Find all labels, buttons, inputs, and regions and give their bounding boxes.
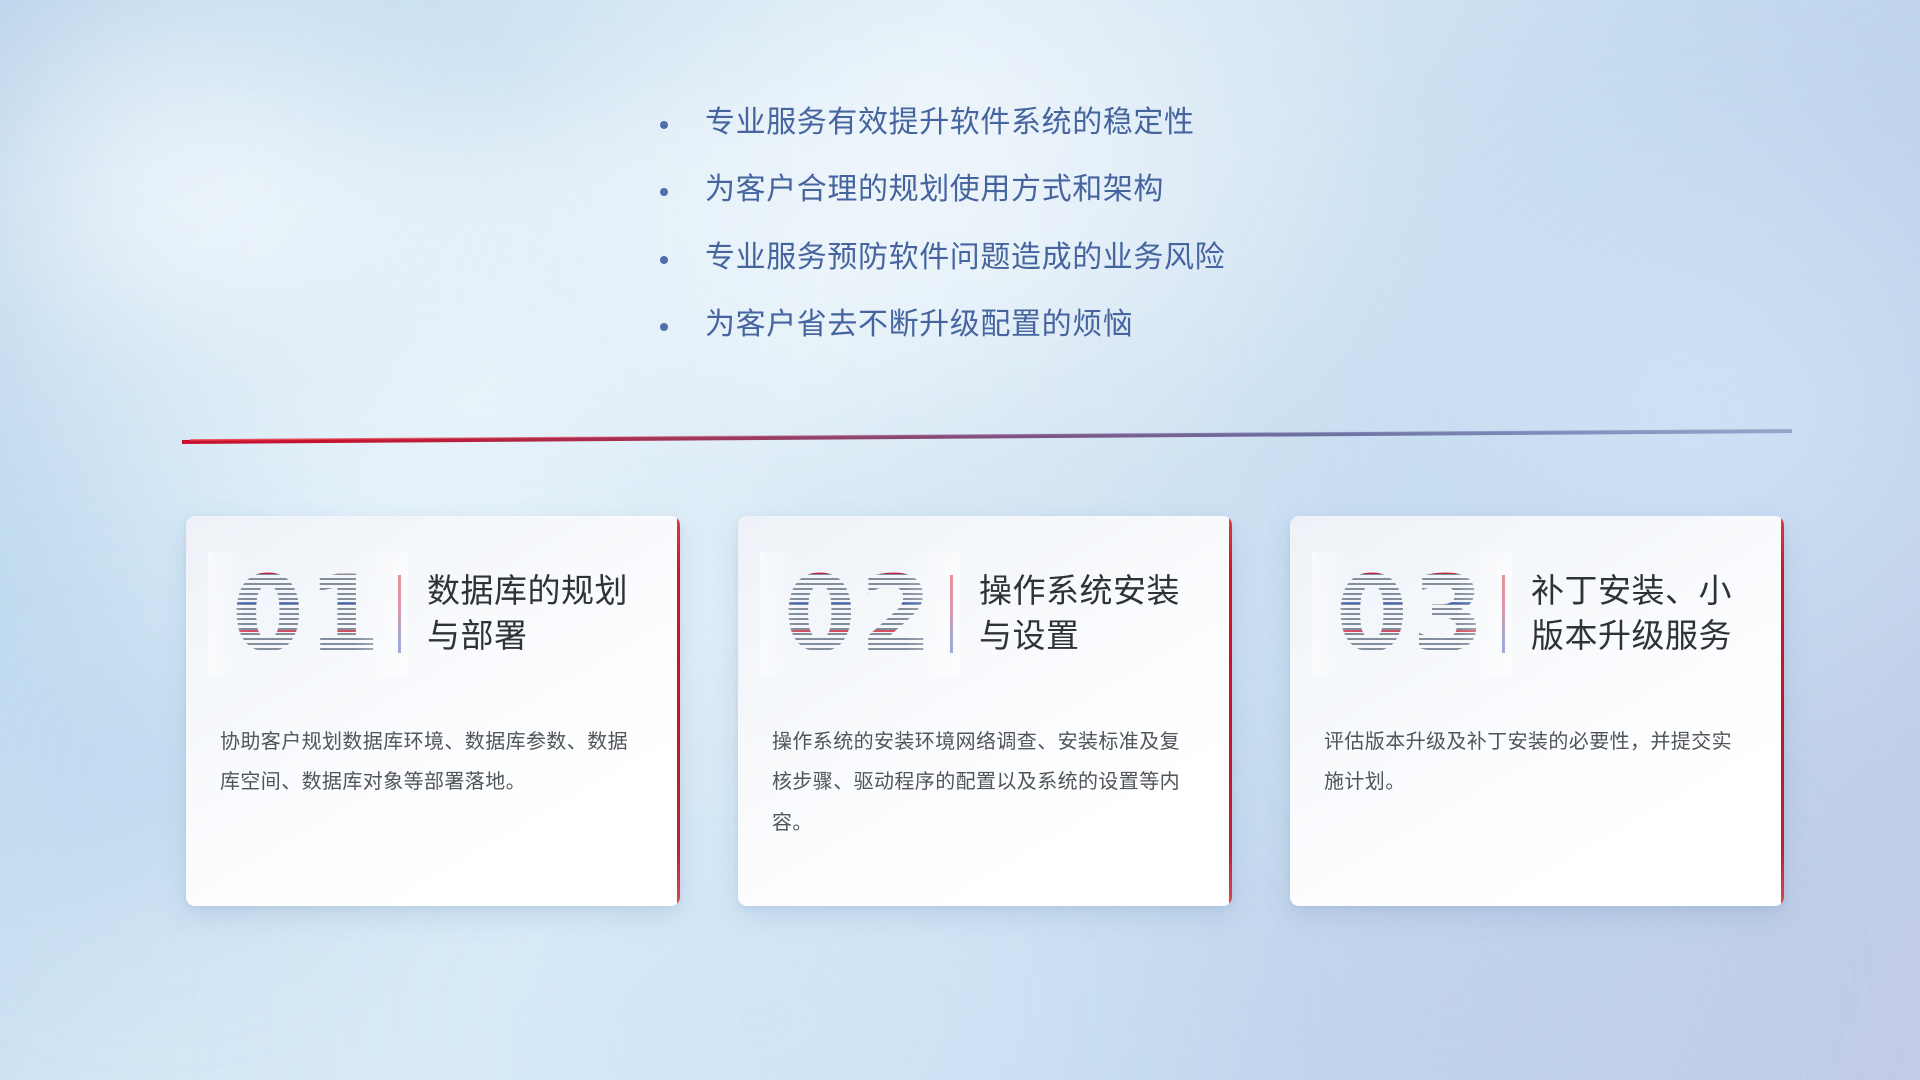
- card-title-line-1: 操作系统安装: [979, 569, 1180, 614]
- card-title-line-2: 版本升级服务: [1531, 614, 1732, 659]
- card-title-accent-bar: [1502, 575, 1505, 653]
- benefits-bullet-list: 专业服务有效提升软件系统的稳定性 为客户合理的规划使用方式和架构 专业服务预防软…: [660, 104, 1225, 374]
- card-body-text: 协助客户规划数据库环境、数据库参数、数据库空间、数据库对象等部署落地。: [220, 722, 646, 803]
- card-number-accent-stripes: 03: [1322, 558, 1502, 670]
- card-header: 03 03 补丁安装、小 版本升级服务: [1290, 516, 1784, 712]
- card-title: 数据库的规划 与部署: [427, 569, 642, 659]
- bullet-dot-icon: [660, 323, 668, 331]
- bullet-text: 专业服务预防软件问题造成的业务风险: [705, 239, 1225, 277]
- list-item: 为客户合理的规划使用方式和架构: [660, 171, 1225, 209]
- list-item: 为客户省去不断升级配置的烦恼: [660, 306, 1225, 344]
- card-header: 01 01 数据库的规划 与部署: [186, 516, 680, 712]
- card-number-watermark: 02 02: [770, 558, 950, 670]
- section-divider: [182, 424, 1792, 446]
- card-title-accent-bar: [398, 575, 401, 653]
- bullet-dot-icon: [660, 256, 668, 264]
- card-number-watermark: 03 03: [1322, 558, 1502, 670]
- card-title-accent-bar: [950, 575, 953, 653]
- service-card[interactable]: 03 03 补丁安装、小 版本升级服务 评估版本升级及补丁安装的必要性，并提交实…: [1290, 516, 1784, 906]
- card-title-line-1: 补丁安装、小: [1531, 569, 1732, 614]
- service-card-group: 01 01 数据库的规划 与部署 协助客户规划数据库环境、数据库参数、数据库空间…: [186, 516, 1784, 906]
- list-item: 专业服务有效提升软件系统的稳定性: [660, 104, 1225, 142]
- card-header: 02 02 操作系统安装 与设置: [738, 516, 1232, 712]
- service-card[interactable]: 02 02 操作系统安装 与设置 操作系统的安装环境网络调查、安装标准及复核步骤…: [738, 516, 1232, 906]
- service-card[interactable]: 01 01 数据库的规划 与部署 协助客户规划数据库环境、数据库参数、数据库空间…: [186, 516, 680, 906]
- card-number-watermark: 01 01: [218, 558, 398, 670]
- bullet-dot-icon: [660, 121, 668, 129]
- card-number-accent-stripes: 01: [218, 558, 398, 670]
- bullet-text: 为客户合理的规划使用方式和架构: [705, 171, 1164, 209]
- card-number-accent-stripes: 02: [770, 558, 950, 670]
- card-title-line-2: 与设置: [979, 614, 1180, 659]
- card-title: 操作系统安装 与设置: [979, 569, 1194, 659]
- card-title: 补丁安装、小 版本升级服务: [1531, 569, 1746, 659]
- bullet-text: 专业服务有效提升软件系统的稳定性: [705, 104, 1195, 142]
- list-item: 专业服务预防软件问题造成的业务风险: [660, 239, 1225, 277]
- card-body-text: 评估版本升级及补丁安装的必要性，并提交实施计划。: [1324, 722, 1750, 803]
- card-title-line-1: 数据库的规划: [427, 569, 628, 614]
- bullet-dot-icon: [660, 188, 668, 196]
- bullet-text: 为客户省去不断升级配置的烦恼: [705, 306, 1133, 344]
- card-body-text: 操作系统的安装环境网络调查、安装标准及复核步骤、驱动程序的配置以及系统的设置等内…: [772, 722, 1198, 843]
- card-title-line-2: 与部署: [427, 614, 628, 659]
